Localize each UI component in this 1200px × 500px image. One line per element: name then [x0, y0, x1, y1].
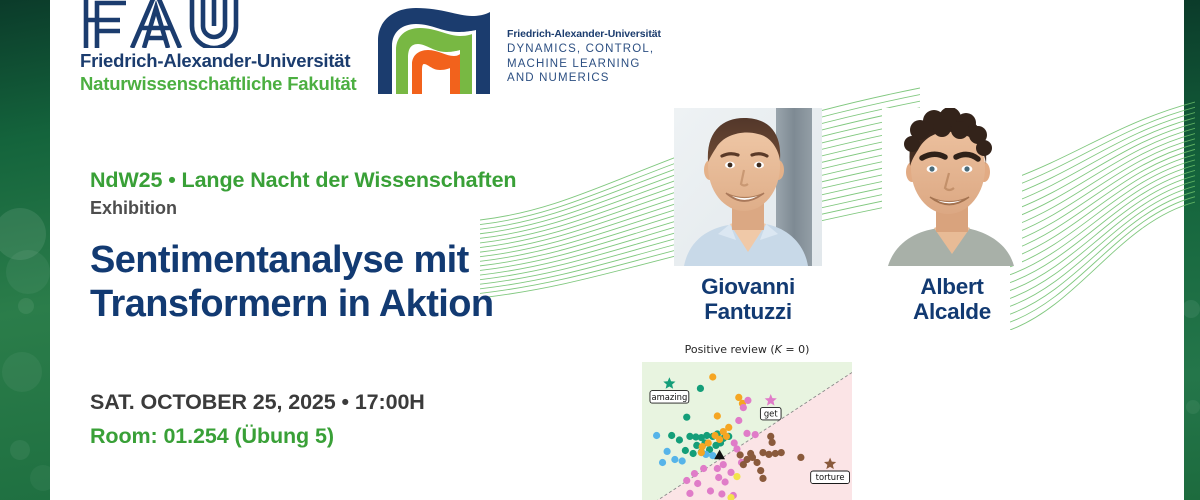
flow-line	[1010, 123, 1195, 212]
scatter-point	[711, 432, 718, 439]
flow-line	[1010, 144, 1195, 243]
event-room: Room: 01.254 (Übung 5)	[90, 424, 334, 449]
event-datetime: SAT. OCTOBER 25, 2025 • 17:00H	[90, 390, 425, 415]
scatter-point	[769, 439, 776, 446]
speaker-name: Albert Alcalde	[872, 274, 1032, 324]
scatter-point	[690, 450, 697, 457]
fau-logo: Friedrich-Alexander-Universität Naturwis…	[80, 0, 350, 95]
dcn-university-name: Friedrich-Alexander-Universität	[507, 28, 661, 40]
scatter-point	[683, 414, 690, 421]
scatter-point	[718, 490, 725, 497]
speaker-name-line2: Fantuzzi	[663, 299, 833, 324]
scatter-point	[709, 373, 716, 380]
dcn-department-name: DYNAMICS, CONTROL, MACHINE LEARNING AND …	[507, 42, 661, 86]
scatter-point	[740, 404, 747, 411]
speaker-card: Giovanni Fantuzzi	[663, 108, 833, 324]
scatter-point	[698, 449, 705, 456]
speaker-name-line2: Alcalde	[872, 299, 1032, 324]
scatter-point	[697, 385, 704, 392]
scatter-point	[747, 450, 754, 457]
scatter-point	[720, 461, 727, 468]
speaker-card: Albert Alcalde	[872, 108, 1032, 324]
left-decorative-band	[0, 0, 50, 500]
bokeh-circle	[18, 298, 34, 314]
scatter-point	[744, 397, 751, 404]
dcn-department-line: DYNAMICS, CONTROL,	[507, 42, 661, 57]
avatar	[674, 108, 822, 266]
scatter-point	[679, 457, 686, 464]
flow-line	[1010, 160, 1195, 267]
fau-logo-line2: Naturwissenschaftliche Fakultät	[80, 73, 350, 95]
scatter-point	[694, 480, 701, 487]
scatter-chart-k8	[862, 340, 1110, 500]
scatter-point	[715, 474, 722, 481]
flow-line	[1010, 197, 1195, 322]
scatter-point	[659, 459, 666, 466]
plot-area: amazinggettorture	[642, 362, 852, 500]
scatter-point	[682, 447, 689, 454]
annotation-label: amazing	[651, 392, 687, 402]
bokeh-circle	[6, 250, 50, 294]
avatar	[882, 108, 1022, 266]
flow-line	[1010, 134, 1195, 228]
scatter-point	[740, 461, 747, 468]
flow-line	[1010, 186, 1195, 306]
flow-line	[1010, 176, 1195, 291]
scatter-point	[735, 417, 742, 424]
flowing-green-lines-right	[1010, 40, 1195, 330]
dcn-logo-text: Friedrich-Alexander-Universität DYNAMICS…	[507, 28, 661, 86]
scatter-point	[733, 473, 740, 480]
flow-line	[1010, 118, 1195, 204]
annotation-label: get	[764, 409, 778, 419]
speaker-name-line1: Giovanni	[663, 274, 833, 299]
flow-line	[1010, 107, 1195, 188]
bokeh-circle	[10, 440, 30, 460]
scatter-point	[759, 475, 766, 482]
scatter-point	[725, 424, 732, 431]
scatter-point	[757, 467, 764, 474]
scatter-point	[765, 451, 772, 458]
scatter-chart-k0: amazinggettorturePositive review (K = 0)	[612, 340, 860, 500]
scatter-point	[752, 431, 759, 438]
scatter-point	[767, 433, 774, 440]
fau-wordmark-icon	[80, 0, 310, 48]
event-kicker: Exhibition	[90, 198, 177, 219]
scatter-point	[653, 432, 660, 439]
scatter-point	[797, 454, 804, 461]
scatter-point	[686, 490, 693, 497]
speaker-name: Giovanni Fantuzzi	[663, 274, 833, 324]
flow-line	[1010, 149, 1195, 251]
right-decorative-band	[1184, 0, 1200, 500]
scatter-point	[721, 478, 728, 485]
dcn-arch-icon	[372, 2, 497, 98]
scatter-point	[743, 430, 750, 437]
scatter-point	[735, 394, 742, 401]
scatter-point	[668, 432, 675, 439]
fau-logo-line1: Friedrich-Alexander-Universität	[80, 50, 350, 72]
scatter-point	[664, 448, 671, 455]
flow-line	[1010, 191, 1195, 314]
chart-title: Positive review (K = 0)	[685, 343, 810, 356]
speaker-name-line1: Albert	[872, 274, 1032, 299]
dcn-department-line: AND NUMERICS	[507, 71, 661, 86]
flow-line	[1010, 155, 1195, 259]
bokeh-circle	[1186, 400, 1200, 414]
scatter-point	[700, 465, 707, 472]
flow-line	[1010, 139, 1195, 235]
flow-line	[1010, 113, 1195, 196]
dcn-department-line: MACHINE LEARNING	[507, 57, 661, 72]
scatter-point	[714, 465, 721, 472]
page-title: Sentimentanalyse mit Transformern in Akt…	[90, 238, 670, 326]
scatter-point	[714, 412, 721, 419]
scatter-point	[737, 451, 744, 458]
bokeh-circle	[30, 465, 50, 491]
flow-line	[1010, 165, 1195, 275]
scatter-point	[723, 433, 730, 440]
flow-line	[1010, 128, 1195, 219]
flow-line	[1010, 181, 1195, 298]
event-eyebrow: NdW25 • Lange Nacht der Wissenschaften	[90, 168, 516, 193]
scatter-point	[691, 470, 698, 477]
scatter-point	[671, 456, 678, 463]
portrait-photo-albert-alcalde	[882, 108, 1022, 266]
flow-line	[1010, 102, 1195, 180]
scatter-point	[727, 469, 734, 476]
flow-line	[1010, 202, 1195, 330]
scatter-point	[683, 477, 690, 484]
annotation-label: torture	[816, 472, 845, 482]
bokeh-circle	[1184, 300, 1200, 318]
scatter-point	[707, 487, 714, 494]
portrait-photo-giovanni-fantuzzi	[674, 108, 822, 266]
scatter-point	[753, 459, 760, 466]
scatter-point	[778, 449, 785, 456]
scatter-point	[676, 436, 683, 443]
dcn-logo: Friedrich-Alexander-Universität DYNAMICS…	[372, 2, 661, 98]
bokeh-circle	[2, 352, 42, 392]
flow-line	[1010, 170, 1195, 282]
